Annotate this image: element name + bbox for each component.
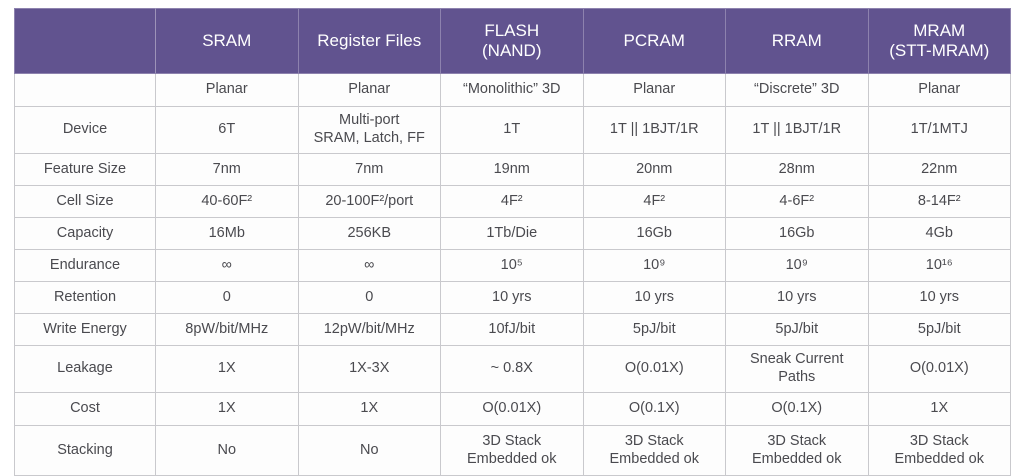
table-row: Leakage 1X 1X-3X ~ 0.8X O(0.01X) Sneak C… xyxy=(15,346,1011,393)
table-row: Planar Planar “Monolithic” 3D Planar “Di… xyxy=(15,74,1011,107)
cell: Sneak Current Paths xyxy=(726,346,869,393)
row-label: Capacity xyxy=(15,218,156,250)
table-row: Endurance ∞ ∞ 10⁵ 10⁹ 10⁹ 10¹⁶ xyxy=(15,250,1011,282)
table-row: Retention 0 0 10 yrs 10 yrs 10 yrs 10 yr… xyxy=(15,282,1011,314)
cell: 256KB xyxy=(298,218,441,250)
row-label: Cell Size xyxy=(15,186,156,218)
table-row: Cost 1X 1X O(0.01X) O(0.1X) O(0.1X) 1X xyxy=(15,393,1011,426)
table-row: Cell Size 40-60F² 20-100F²/port 4F² 4F² … xyxy=(15,186,1011,218)
cell: Planar xyxy=(583,74,726,107)
cell: 7nm xyxy=(156,154,299,186)
header-cell-rram: RRAM xyxy=(726,9,869,74)
cell: O(0.1X) xyxy=(726,393,869,426)
page-root: SRAM Register Files FLASH (NAND) PCRAM R… xyxy=(0,0,1024,441)
row-label: Feature Size xyxy=(15,154,156,186)
cell: 3D Stack Embedded ok xyxy=(441,426,584,476)
cell: “Discrete” 3D xyxy=(726,74,869,107)
table-header: SRAM Register Files FLASH (NAND) PCRAM R… xyxy=(15,9,1011,74)
cell: Planar xyxy=(156,74,299,107)
cell: ~ 0.8X xyxy=(441,346,584,393)
cell: 5pJ/bit xyxy=(726,314,869,346)
cell: 4F² xyxy=(441,186,584,218)
row-label: Stacking xyxy=(15,426,156,476)
header-cell-pcram: PCRAM xyxy=(583,9,726,74)
table-row: Device 6T Multi-port SRAM, Latch, FF 1T … xyxy=(15,107,1011,154)
cell: 16Gb xyxy=(583,218,726,250)
table-body: Planar Planar “Monolithic” 3D Planar “Di… xyxy=(15,74,1011,476)
cell: 3D Stack Embedded ok xyxy=(726,426,869,476)
cell: 10⁵ xyxy=(441,250,584,282)
cell: O(0.01X) xyxy=(583,346,726,393)
cell: 6T xyxy=(156,107,299,154)
cell: 7nm xyxy=(298,154,441,186)
header-cell-mram: MRAM (STT-MRAM) xyxy=(868,9,1011,74)
cell: 1T/1MTJ xyxy=(868,107,1011,154)
cell: O(0.01X) xyxy=(441,393,584,426)
cell: No xyxy=(156,426,299,476)
cell: O(0.1X) xyxy=(583,393,726,426)
cell: 40-60F² xyxy=(156,186,299,218)
table-row: Feature Size 7nm 7nm 19nm 20nm 28nm 22nm xyxy=(15,154,1011,186)
cell: 12pW/bit/MHz xyxy=(298,314,441,346)
header-cell-register-files: Register Files xyxy=(298,9,441,74)
cell: 10fJ/bit xyxy=(441,314,584,346)
cell: 10 yrs xyxy=(868,282,1011,314)
cell: 3D Stack Embedded ok xyxy=(868,426,1011,476)
cell: 1X xyxy=(156,346,299,393)
cell: 1T || 1BJT/1R xyxy=(583,107,726,154)
header-cell-flash: FLASH (NAND) xyxy=(441,9,584,74)
row-label: Write Energy xyxy=(15,314,156,346)
cell: 20nm xyxy=(583,154,726,186)
cell: 10¹⁶ xyxy=(868,250,1011,282)
cell: ∞ xyxy=(156,250,299,282)
cell: 10 yrs xyxy=(441,282,584,314)
cell: 22nm xyxy=(868,154,1011,186)
table-row: Capacity 16Mb 256KB 1Tb/Die 16Gb 16Gb 4G… xyxy=(15,218,1011,250)
cell: O(0.01X) xyxy=(868,346,1011,393)
row-label: Retention xyxy=(15,282,156,314)
cell: Multi-port SRAM, Latch, FF xyxy=(298,107,441,154)
cell: 20-100F²/port xyxy=(298,186,441,218)
row-label: Leakage xyxy=(15,346,156,393)
cell: 16Gb xyxy=(726,218,869,250)
cell: 5pJ/bit xyxy=(868,314,1011,346)
cell: “Monolithic” 3D xyxy=(441,74,584,107)
cell: 1Tb/Die xyxy=(441,218,584,250)
cell: ∞ xyxy=(298,250,441,282)
cell: 16Mb xyxy=(156,218,299,250)
cell: 10⁹ xyxy=(583,250,726,282)
cell: 4F² xyxy=(583,186,726,218)
cell: No xyxy=(298,426,441,476)
row-label xyxy=(15,74,156,107)
row-label: Endurance xyxy=(15,250,156,282)
cell: Planar xyxy=(298,74,441,107)
cell: 1X xyxy=(298,393,441,426)
header-cell-sram: SRAM xyxy=(156,9,299,74)
cell: 0 xyxy=(156,282,299,314)
cell: 4Gb xyxy=(868,218,1011,250)
cell: 10⁹ xyxy=(726,250,869,282)
cell: 19nm xyxy=(441,154,584,186)
cell: 1T xyxy=(441,107,584,154)
row-label: Device xyxy=(15,107,156,154)
table-row: Write Energy 8pW/bit/MHz 12pW/bit/MHz 10… xyxy=(15,314,1011,346)
header-cell-attribute xyxy=(15,9,156,74)
cell: 1X xyxy=(156,393,299,426)
memory-comparison-table-wrapper: SRAM Register Files FLASH (NAND) PCRAM R… xyxy=(14,8,1010,421)
cell: 1T || 1BJT/1R xyxy=(726,107,869,154)
memory-comparison-table: SRAM Register Files FLASH (NAND) PCRAM R… xyxy=(14,8,1011,476)
cell: 4-6F² xyxy=(726,186,869,218)
cell: 8pW/bit/MHz xyxy=(156,314,299,346)
cell: 8-14F² xyxy=(868,186,1011,218)
cell: 10 yrs xyxy=(726,282,869,314)
table-row: Stacking No No 3D Stack Embedded ok 3D S… xyxy=(15,426,1011,476)
cell: 5pJ/bit xyxy=(583,314,726,346)
cell: 3D Stack Embedded ok xyxy=(583,426,726,476)
cell: 1X xyxy=(868,393,1011,426)
row-label: Cost xyxy=(15,393,156,426)
cell: Planar xyxy=(868,74,1011,107)
cell: 0 xyxy=(298,282,441,314)
header-row: SRAM Register Files FLASH (NAND) PCRAM R… xyxy=(15,9,1011,74)
cell: 28nm xyxy=(726,154,869,186)
cell: 10 yrs xyxy=(583,282,726,314)
cell: 1X-3X xyxy=(298,346,441,393)
